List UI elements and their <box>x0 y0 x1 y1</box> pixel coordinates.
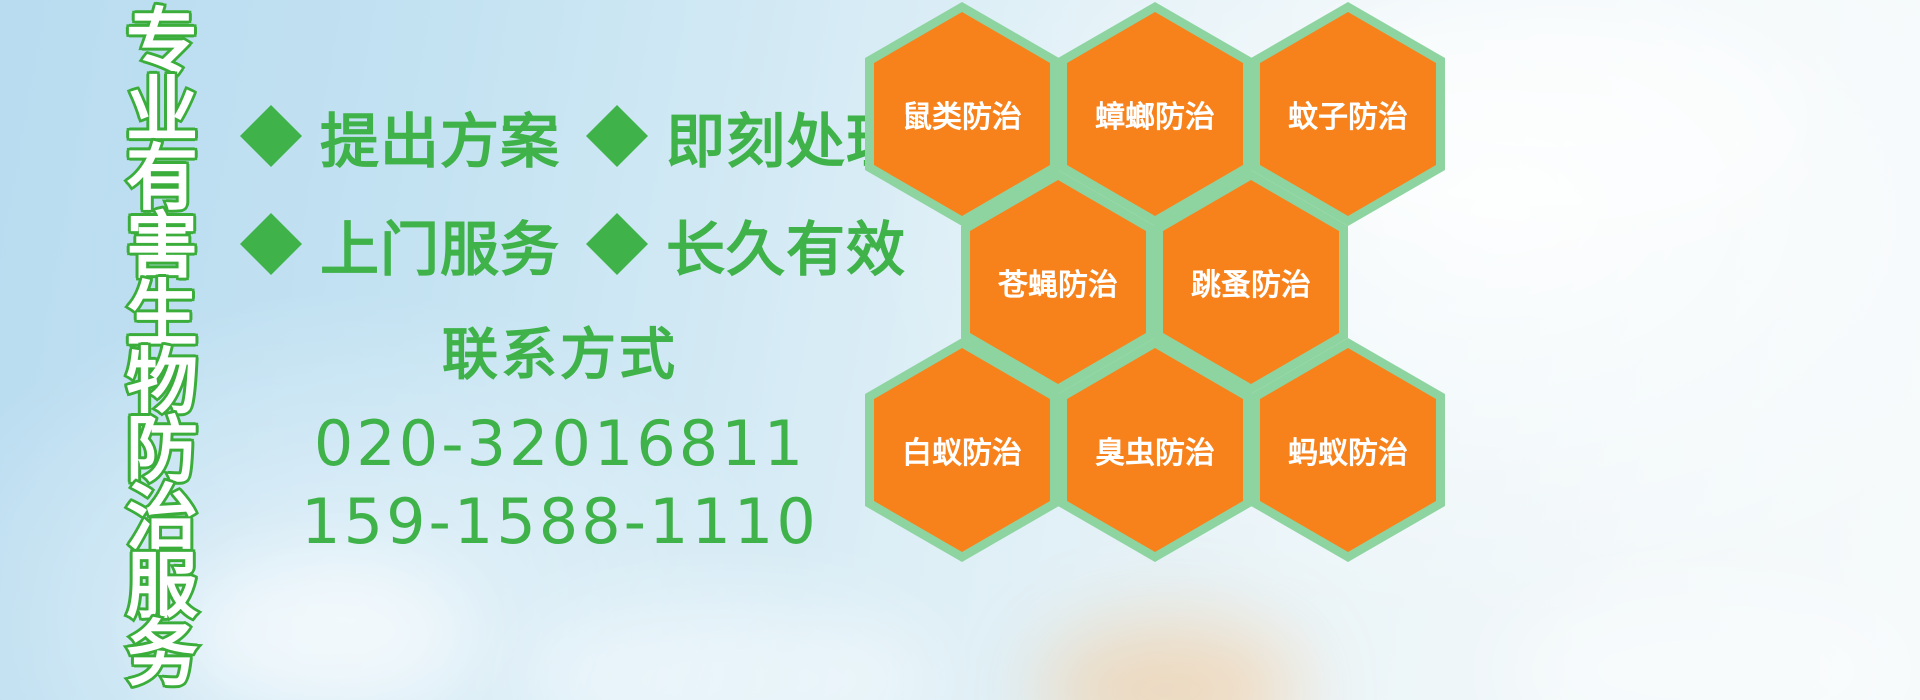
service-hexagon-label: 跳蚤防治 <box>1191 260 1311 304</box>
vertical-headline-char: 物 <box>126 348 198 416</box>
diamond-icon <box>586 74 648 136</box>
service-hexagon-grid: 鼠类防治 蟑螂防治 蚊子防治 苍蝇防治 跳蚤防治 白蚁防治 <box>855 0 1475 650</box>
vertical-headline-char: 治 <box>126 484 198 552</box>
service-hexagon-label: 臭虫防治 <box>1095 428 1215 472</box>
service-hexagon-fill: 蚂蚁防治 <box>1260 348 1436 552</box>
diamond-icon <box>240 74 302 136</box>
feature-row: 上门服务 长久有效 <box>240 190 880 298</box>
vertical-headline-char: 务 <box>126 620 198 688</box>
service-hexagon-fill: 跳蚤防治 <box>1163 180 1339 384</box>
contact-phone-secondary[interactable]: 159-1588-1110 <box>240 483 880 561</box>
service-hexagon-fill: 臭虫防治 <box>1067 348 1243 552</box>
vertical-headline-char: 有 <box>126 144 198 212</box>
service-hexagon-fill: 苍蝇防治 <box>970 180 1146 384</box>
contact-phone-primary[interactable]: 020-32016811 <box>240 405 880 483</box>
feature-item: 提出方案 <box>240 94 560 179</box>
vertical-headline-char: 服 <box>126 552 198 620</box>
service-hexagon-label: 蚊子防治 <box>1288 92 1408 136</box>
service-hexagon-label: 蟑螂防治 <box>1095 92 1215 136</box>
service-hexagon-label: 蚂蚁防治 <box>1288 428 1408 472</box>
diamond-icon <box>586 182 648 244</box>
vertical-headline-char: 业 <box>126 76 198 144</box>
feature-label: 上门服务 <box>320 202 560 287</box>
feature-item: 上门服务 <box>240 202 560 287</box>
contact-title: 联系方式 <box>240 310 880 391</box>
background-bokeh-blob <box>1500 580 1920 700</box>
service-hexagon-fill: 鼠类防治 <box>874 12 1050 216</box>
vertical-headline-char: 专 <box>126 8 198 76</box>
diamond-icon <box>240 182 302 244</box>
vertical-headline-char: 防 <box>126 416 198 484</box>
feature-label: 提出方案 <box>320 94 560 179</box>
vertical-headline-char: 害 <box>126 212 198 280</box>
service-hexagon-label: 苍蝇防治 <box>998 260 1118 304</box>
promo-banner: 专 业 有 害 生 物 防 治 服 务 提出方案 即刻处理 上门服务 <box>0 0 1920 700</box>
service-hexagon-label: 白蚁防治 <box>902 428 1022 472</box>
vertical-headline-char: 生 <box>126 280 198 348</box>
feature-list: 提出方案 即刻处理 上门服务 长久有效 <box>240 82 880 298</box>
feature-row: 提出方案 即刻处理 <box>240 82 880 190</box>
service-hexagon-fill: 蚊子防治 <box>1260 12 1436 216</box>
service-hexagon-fill: 白蚁防治 <box>874 348 1050 552</box>
vertical-headline: 专 业 有 害 生 物 防 治 服 务 <box>108 8 216 688</box>
service-hexagon-fill: 蟑螂防治 <box>1067 12 1243 216</box>
contact-block: 联系方式 020-32016811 159-1588-1110 <box>240 310 880 561</box>
service-hexagon-label: 鼠类防治 <box>902 92 1022 136</box>
